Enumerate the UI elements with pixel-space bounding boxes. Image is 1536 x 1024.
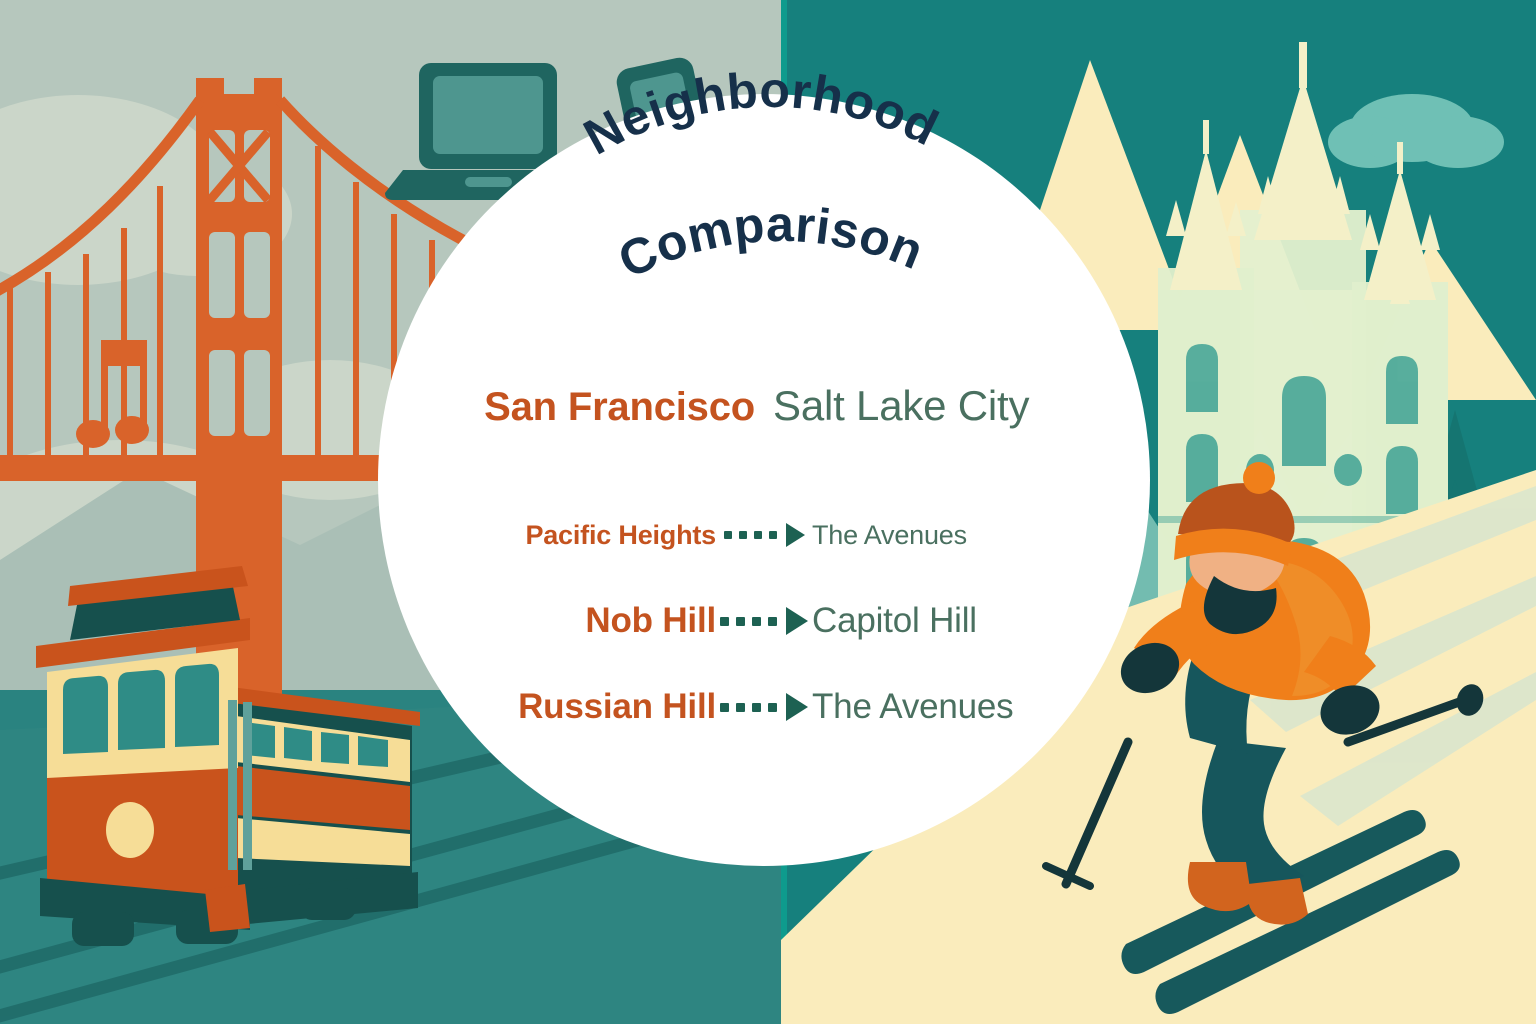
arrow-dash — [754, 531, 762, 539]
neighborhood-right: The Avenues — [812, 687, 1102, 727]
arrow-dash — [724, 531, 732, 539]
neighborhood-right: Capitol Hill — [812, 601, 1102, 641]
arrow-dash — [769, 531, 777, 539]
city-header-row: San Francisco Salt Lake City — [378, 382, 1150, 430]
title-line-2: Comparison — [610, 196, 931, 289]
neighborhood-left: Russian Hill — [426, 687, 716, 727]
arrow-dash — [720, 703, 729, 712]
page-title: Neighborhood Comparison — [378, 150, 1150, 380]
arrow-head — [786, 523, 805, 547]
comparison-content: Neighborhood Comparison San Francisco Sa… — [378, 94, 1150, 866]
arrow-dash — [736, 703, 745, 712]
neighborhood-left: Nob Hill — [426, 601, 716, 641]
comparison-row: Nob Hill Capitol Hill — [378, 578, 1150, 664]
neighborhood-right: The Avenues — [812, 520, 1102, 551]
arrow-dash — [768, 617, 777, 626]
arrow-dash — [736, 617, 745, 626]
arrow-dash — [752, 617, 761, 626]
arrow-icon — [716, 607, 812, 635]
city-left-label: San Francisco — [425, 385, 755, 430]
arrow-dash — [720, 617, 729, 626]
arrow-head — [786, 693, 808, 721]
comparison-list: Pacific Heights The Avenues Nob Hill — [378, 492, 1150, 750]
arrow-icon — [716, 693, 812, 721]
infographic-canvas: Neighborhood Comparison San Francisco Sa… — [0, 0, 1536, 1024]
arrow-dash — [739, 531, 747, 539]
comparison-row: Pacific Heights The Avenues — [378, 492, 1150, 578]
arrow-icon — [716, 523, 812, 547]
arrow-head — [786, 607, 808, 635]
neighborhood-left: Pacific Heights — [426, 520, 716, 551]
comparison-row: Russian Hill The Avenues — [378, 664, 1150, 750]
city-right-label: Salt Lake City — [773, 382, 1103, 430]
arrow-dash — [752, 703, 761, 712]
arrow-dash — [768, 703, 777, 712]
